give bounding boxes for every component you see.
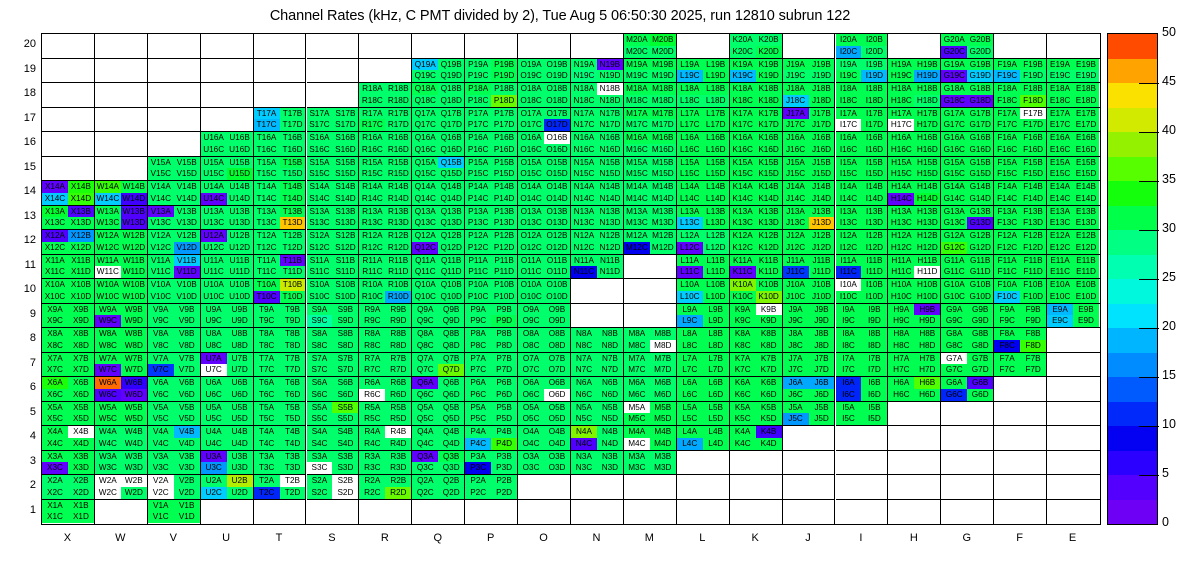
pmt-channel: V4C [148,438,174,450]
channel-rate-map: Channel Rates (kHz, C PMT divided by 2),… [0,0,1196,572]
pmt-channel: H11D [914,266,940,278]
pmt-channel: F7B [1020,353,1046,365]
pmt-channel: M13D [650,217,676,229]
heatmap-cell [677,34,730,59]
colorbar-tick-mark [1139,83,1159,84]
pmt-channel: U15A [201,157,227,169]
colorbar-tick-label: 0 [1162,515,1169,529]
pmt-channel: G13B [967,206,993,218]
heatmap-cell: U4AU4BU4CU4D [201,426,254,451]
pmt-channel: T12D [280,242,306,254]
heatmap-cell: G19AG19BG19CG19D [941,59,994,84]
pmt-channel: X1B [68,500,94,512]
pmt-channel: Q3A [412,451,438,463]
pmt-channel: N16B [597,132,623,144]
colorbar-tick-mark [1139,475,1159,476]
heatmap-cell: R16AR16BR16CR16D [359,132,412,157]
heatmap-cell [1047,500,1100,525]
heatmap-cell: U16AU16BU16CU16D [201,132,254,157]
pmt-channel: V7C [148,364,174,376]
pmt-channel: S13D [332,217,358,229]
pmt-channel: N5A [571,402,597,414]
pmt-channel: P15D [491,168,517,180]
pmt-channel: X10A [42,279,68,291]
pmt-channel: I11D [861,266,887,278]
pmt-channel: X6D [68,389,94,401]
pmt-channel: T6D [280,389,306,401]
heatmap-cell: V5AV5BV5CV5D [148,402,201,427]
pmt-channel: V10C [148,291,174,303]
pmt-channel: P9C [465,315,491,327]
pmt-channel: K19D [756,70,782,82]
pmt-channel: F19A [994,59,1020,71]
pmt-channel: O5A [518,402,544,414]
heatmap-cell: G10AG10BG10CG10D [941,279,994,304]
pmt-channel: O10B [544,279,570,291]
pmt-channel: V10B [174,279,200,291]
heatmap-cell: N7AN7BN7CN7D [571,353,624,378]
pmt-channel: H13B [914,206,940,218]
pmt-channel: T13C [254,217,280,229]
heatmap-cell: K18AK18BK18CK18D [730,83,783,108]
heatmap-cell: F7AF7BF7CF7D [994,353,1047,378]
colorbar-tick-label: 15 [1162,368,1176,382]
pmt-channel: J19A [783,59,809,71]
pmt-channel: O4A [518,426,544,438]
pmt-channel: F11B [1020,255,1046,267]
pmt-channel: S11C [307,266,333,278]
pmt-channel: L5A [677,402,703,414]
pmt-channel: K9B [756,304,782,316]
y-tick-label: 17 [6,112,36,124]
pmt-channel: T6A [254,377,280,389]
pmt-channel: Q8C [412,340,438,352]
heatmap-cell: H6AH6BH6CH6D [888,377,941,402]
pmt-channel: E13A [1047,206,1073,218]
pmt-channel: U2D [227,487,253,499]
pmt-channel: K14B [756,181,782,193]
pmt-channel: F11D [1020,266,1046,278]
pmt-channel: R9C [359,315,385,327]
pmt-channel: M14D [650,193,676,205]
pmt-channel: E11C [1047,266,1073,278]
pmt-channel: W9D [121,315,147,327]
pmt-channel: P14C [465,193,491,205]
pmt-channel: P17C [465,119,491,131]
pmt-channel: S13B [332,206,358,218]
pmt-channel: R10B [385,279,411,291]
heatmap-cell: T15AT15BT15CT15D [254,157,307,182]
pmt-channel: U13A [201,206,227,218]
heatmap-cell: N16AN16BN16CN16D [571,132,624,157]
pmt-channel: V1B [174,500,200,512]
pmt-channel: M6B [650,377,676,389]
pmt-channel: R7C [359,364,385,376]
pmt-channel: V12C [148,242,174,254]
heatmap-cell: N17AN17BN17CN17D [571,108,624,133]
pmt-channel: O9B [544,304,570,316]
pmt-channel: J8B [809,328,835,340]
pmt-channel: O16C [518,144,544,156]
pmt-channel: S6A [307,377,333,389]
pmt-channel: E16C [1047,144,1073,156]
heatmap-cell: L11AL11BL11CL11D [677,255,730,280]
heatmap-cell: I12AI12BI12CI12D [836,230,889,255]
pmt-channel: T5B [280,402,306,414]
pmt-channel: T17C [254,119,280,131]
pmt-channel: P11A [465,255,491,267]
pmt-channel: X5A [42,402,68,414]
pmt-channel: T9C [254,315,280,327]
pmt-channel: O3A [518,451,544,463]
pmt-channel: P19D [491,70,517,82]
pmt-channel: O9A [518,304,544,316]
pmt-channel: W6C [95,389,121,401]
pmt-channel: W6B [121,377,147,389]
pmt-channel: F10D [1020,291,1046,303]
pmt-channel: K6D [756,389,782,401]
pmt-channel: U15C [201,168,227,180]
x-tick-label: P [464,532,517,544]
pmt-channel: O7D [544,364,570,376]
colorbar-tick-mark [1139,377,1159,378]
pmt-channel: N13C [571,217,597,229]
colorbar-tick-label: 5 [1162,466,1169,480]
x-tick-label: L [676,532,729,544]
pmt-channel: S2D [332,487,358,499]
pmt-channel: R4B [385,426,411,438]
pmt-channel: Q18B [438,83,464,95]
pmt-channel: H18C [888,95,914,107]
pmt-channel: T11D [280,266,306,278]
heatmap-cell: E15AE15BE15CE15D [1047,157,1100,182]
pmt-channel: O6A [518,377,544,389]
pmt-channel: L16B [703,132,729,144]
heatmap-cell: K8AK8BK8CK8D [730,328,783,353]
pmt-channel: R12A [359,230,385,242]
heatmap-cell [307,59,360,84]
pmt-channel: I12B [861,230,887,242]
pmt-channel: F18C [994,95,1020,107]
pmt-channel: G9A [941,304,967,316]
pmt-channel: X12A [42,230,68,242]
pmt-channel: G11B [967,255,993,267]
heatmap-cell: O17AO17BO17CO17D [518,108,571,133]
pmt-channel: J12C [783,242,809,254]
heatmap-cell: G7AG7BG7CG7D [941,353,994,378]
pmt-channel: S5C [307,413,333,425]
pmt-channel: K13D [756,217,782,229]
heatmap-cell [42,34,95,59]
pmt-channel: N19A [571,59,597,71]
pmt-channel: T15A [254,157,280,169]
pmt-channel: K16C [730,144,756,156]
pmt-channel: O9C [518,315,544,327]
pmt-channel: U15B [227,157,253,169]
pmt-channel: F18B [1020,83,1046,95]
pmt-channel: T15B [280,157,306,169]
pmt-channel: N3A [571,451,597,463]
heatmap-cell: M18AM18BM18CM18D [624,83,677,108]
pmt-channel: Q19D [438,70,464,82]
pmt-channel: R6C [359,389,385,401]
pmt-channel: H17D [914,119,940,131]
pmt-channel: L16A [677,132,703,144]
pmt-channel: T14B [280,181,306,193]
heatmap-cell: V11AV11BV11CV11D [148,255,201,280]
y-tick-label: 14 [6,185,36,197]
pmt-channel: F11A [994,255,1020,267]
pmt-channel: O8B [544,328,570,340]
pmt-channel: K10C [730,291,756,303]
pmt-channel: U8B [227,328,253,340]
pmt-channel: S14A [307,181,333,193]
pmt-channel: J9D [809,315,835,327]
pmt-channel: K13C [730,217,756,229]
pmt-channel: N16C [571,144,597,156]
heatmap-cell: P17AP17BP17CP17D [465,108,518,133]
pmt-channel: R14A [359,181,385,193]
pmt-channel: L7B [703,353,729,365]
pmt-channel: L4D [703,438,729,450]
heatmap-cell [730,475,783,500]
pmt-channel: O8C [518,340,544,352]
pmt-channel: T6B [280,377,306,389]
colorbar-segment [1108,132,1157,157]
heatmap-cell: K9AK9BK9CK9D [730,304,783,329]
pmt-channel: U6C [201,389,227,401]
pmt-channel: V9D [174,315,200,327]
pmt-channel: V11D [174,266,200,278]
pmt-channel: U10D [227,291,253,303]
pmt-channel: P5B [491,402,517,414]
pmt-channel: T8A [254,328,280,340]
pmt-channel: U3A [201,451,227,463]
pmt-channel: J14D [809,193,835,205]
heatmap-cell: H19AH19BH19CH19D [888,59,941,84]
pmt-channel: P7B [491,353,517,365]
heatmap-cell: G17AG17BG17CG17D [941,108,994,133]
pmt-channel: H8B [914,328,940,340]
pmt-channel: W4C [95,438,121,450]
pmt-channel: O7A [518,353,544,365]
heatmap-cell [1047,34,1100,59]
heatmap-cell: P2AP2BP2CP2D [465,475,518,500]
pmt-channel: R4D [385,438,411,450]
pmt-channel: M17D [650,119,676,131]
pmt-channel: W5C [95,413,121,425]
heatmap-cell: I15AI15BI15CI15D [836,157,889,182]
pmt-channel: V15A [148,157,174,169]
pmt-channel: K5A [730,402,756,414]
heatmap-cell [412,34,465,59]
heatmap-cell [836,451,889,476]
pmt-channel: V2A [148,475,174,487]
pmt-channel: L6D [703,389,729,401]
heatmap-cell [95,157,148,182]
pmt-channel: N7D [597,364,623,376]
heatmap-cell: P16AP16BP16CP16D [465,132,518,157]
pmt-channel: R6A [359,377,385,389]
pmt-channel: X4D [68,438,94,450]
pmt-channel: L9A [677,304,703,316]
pmt-channel: G18C [941,95,967,107]
pmt-channel: E17B [1073,108,1099,120]
pmt-channel: J11C [783,266,809,278]
heatmap-cell: L18AL18BL18CL18D [677,83,730,108]
pmt-channel: L8A [677,328,703,340]
pmt-channel: S12B [332,230,358,242]
heatmap-cell [624,255,677,280]
pmt-channel: S15B [332,157,358,169]
pmt-channel: P10D [491,291,517,303]
heatmap-cell: I16AI16BI16CI16D [836,132,889,157]
heatmap-cell: T8AT8BT8CT8D [254,328,307,353]
pmt-channel: G20C [941,46,967,58]
heatmap-cell: O18AO18BO18CO18D [518,83,571,108]
pmt-channel: L16D [703,144,729,156]
pmt-channel: U11D [227,266,253,278]
pmt-channel: I9D [861,315,887,327]
heatmap-cell: K13AK13BK13CK13D [730,206,783,231]
pmt-channel: M16A [624,132,650,144]
pmt-channel: G20B [967,34,993,46]
heatmap-cell: Q2AQ2BQ2CQ2D [412,475,465,500]
heatmap-cell [95,132,148,157]
pmt-channel: O12D [544,242,570,254]
pmt-channel: L4C [677,438,703,450]
heatmap-cell: X12AX12BX12CX12D [42,230,95,255]
pmt-channel: H14D [914,193,940,205]
pmt-channel: P4C [465,438,491,450]
pmt-channel: X7B [68,353,94,365]
pmt-channel: M17A [624,108,650,120]
pmt-channel: L5C [677,413,703,425]
pmt-channel: E13B [1073,206,1099,218]
pmt-channel: G15B [967,157,993,169]
pmt-channel: E17A [1047,108,1073,120]
pmt-channel: P13A [465,206,491,218]
pmt-channel: P18C [465,95,491,107]
pmt-channel: X10D [68,291,94,303]
heatmap-cell: T13AT13BT13CT13D [254,206,307,231]
pmt-channel: O18D [544,95,570,107]
pmt-channel: T7D [280,364,306,376]
pmt-channel: M19B [650,59,676,71]
pmt-channel: O5C [518,413,544,425]
pmt-channel: U13B [227,206,253,218]
heatmap-cell [888,426,941,451]
heatmap-cell: V14AV14BV14CV14D [148,181,201,206]
pmt-channel: P8B [491,328,517,340]
pmt-channel: Q18D [438,95,464,107]
pmt-channel: X11C [42,266,68,278]
pmt-channel: L18C [677,95,703,107]
heatmap-cell: I10AI10BI10CI10D [836,279,889,304]
pmt-channel: F10B [1020,279,1046,291]
pmt-channel: R6D [385,389,411,401]
pmt-channel: P12B [491,230,517,242]
heatmap-cell: T14AT14BT14CT14D [254,181,307,206]
pmt-channel: L10D [703,291,729,303]
pmt-channel: J12D [809,242,835,254]
heatmap-cell: J18AJ18BJ18CJ18D [783,83,836,108]
heatmap-cell: K12AK12BK12CK12D [730,230,783,255]
pmt-channel: S12A [307,230,333,242]
pmt-channel: G12B [967,230,993,242]
pmt-channel: T7B [280,353,306,365]
pmt-channel: X9C [42,315,68,327]
heatmap-cell: J8AJ8BJ8CJ8D [783,328,836,353]
pmt-channel: Q16C [412,144,438,156]
pmt-channel: L14C [677,193,703,205]
pmt-channel: R2D [385,487,411,499]
pmt-channel: F7C [994,364,1020,376]
pmt-channel: J7D [809,364,835,376]
heatmap-cell: Q4AQ4BQ4CQ4D [412,426,465,451]
colorbar-tick-mark [1139,279,1159,280]
pmt-channel: J12A [783,230,809,242]
pmt-channel: T13D [280,217,306,229]
heatmap-cell: M16AM16BM16CM16D [624,132,677,157]
pmt-channel: F14A [994,181,1020,193]
pmt-channel: U11C [201,266,227,278]
pmt-channel: U14C [201,193,227,205]
heatmap-cell [307,34,360,59]
pmt-channel: N4C [571,438,597,450]
pmt-channel: R13D [385,217,411,229]
pmt-channel: J16B [809,132,835,144]
pmt-channel: Q4B [438,426,464,438]
pmt-channel: P2B [491,475,517,487]
pmt-channel: Q11B [438,255,464,267]
pmt-channel: M12B [650,230,676,242]
heatmap-cell [307,83,360,108]
pmt-channel: K7C [730,364,756,376]
pmt-channel: G19B [967,59,993,71]
colorbar-segment [1108,206,1157,231]
heatmap-cell [571,500,624,525]
heatmap-cell: Q18AQ18BQ18CQ18D [412,83,465,108]
pmt-channel: W10C [95,291,121,303]
pmt-channel: P18A [465,83,491,95]
pmt-channel: G9C [941,315,967,327]
pmt-channel: Q7A [412,353,438,365]
colorbar-tick-mark [1139,230,1159,231]
pmt-channel: R14B [385,181,411,193]
pmt-channel: O16B [544,132,570,144]
pmt-channel: F13C [994,217,1020,229]
pmt-channel: W13A [95,206,121,218]
pmt-channel: I15B [861,157,887,169]
pmt-channel: H18D [914,95,940,107]
pmt-channel: X10C [42,291,68,303]
pmt-channel: W8A [95,328,121,340]
pmt-channel: F16C [994,144,1020,156]
colorbar-segment [1108,475,1157,500]
pmt-channel: E14A [1047,181,1073,193]
heatmap-cell: J15AJ15BJ15CJ15D [783,157,836,182]
heatmap-cell: O7AO7BO7CO7D [518,353,571,378]
pmt-channel: R17D [385,119,411,131]
pmt-channel: K8B [756,328,782,340]
pmt-channel: K15D [756,168,782,180]
pmt-channel: K8A [730,328,756,340]
pmt-channel: F10C [994,291,1020,303]
heatmap-cell: E19AE19BE19CE19D [1047,59,1100,84]
pmt-channel: K8D [756,340,782,352]
heatmap-cell: W12AW12BW12CW12D [95,230,148,255]
